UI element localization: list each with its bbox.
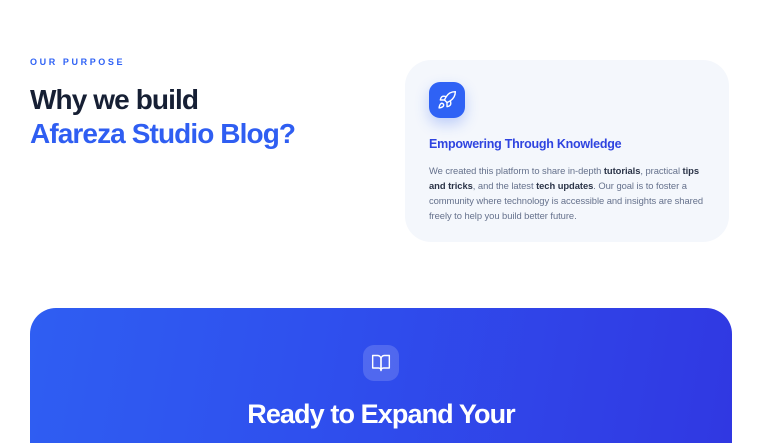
- page-root: OUR PURPOSE Why we build Afareza Studio …: [0, 0, 762, 429]
- card-body-segment-3: , and the latest: [473, 180, 536, 191]
- knowledge-card: Empowering Through Knowledge We created …: [405, 60, 729, 242]
- card-body-segment-1: We created this platform to share in-dep…: [429, 165, 604, 176]
- page-title: Why we build Afareza Studio Blog?: [30, 83, 370, 151]
- book-open-icon: [363, 345, 399, 381]
- card-body: We created this platform to share in-dep…: [429, 163, 705, 223]
- cta-title: Ready to Expand Your: [30, 398, 732, 431]
- headline-line-2: Afareza Studio Blog?: [30, 117, 370, 151]
- section-eyebrow: OUR PURPOSE: [30, 58, 370, 67]
- card-title: Empowering Through Knowledge: [429, 137, 705, 152]
- rocket-icon: [429, 82, 465, 118]
- card-body-bold-1: tutorials: [604, 165, 641, 176]
- headline-line-1: Why we build: [30, 83, 370, 117]
- purpose-section: OUR PURPOSE Why we build Afareza Studio …: [30, 58, 370, 151]
- card-body-bold-3: tech updates: [536, 180, 593, 191]
- cta-band: Ready to Expand Your: [30, 308, 732, 443]
- card-body-segment-2: , practical: [640, 165, 682, 176]
